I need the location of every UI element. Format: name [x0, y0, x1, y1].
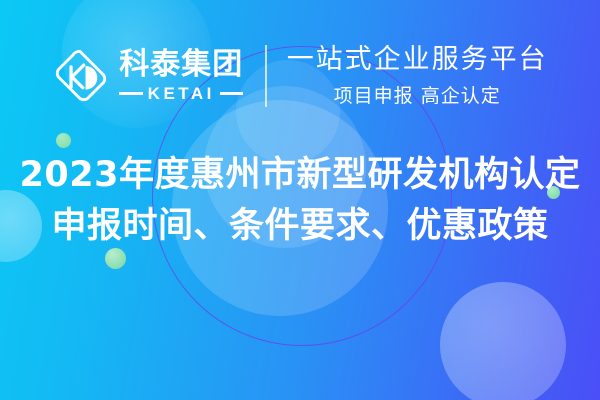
wordmark-rule-left [119, 92, 142, 95]
banner-header: 科泰集团 KETAI 一站式企业服务平台 项目申报 高企认定 [0, 34, 600, 118]
tagline-secondary: 项目申报 高企认定 [287, 81, 548, 108]
brand-logo: 科泰集团 KETAI [52, 47, 243, 105]
decorative-circle-bottom-right [440, 282, 566, 400]
headline-line-1: 2023年度惠州市新型研发机构认定 [0, 150, 600, 201]
wordmark-rule-right [220, 92, 243, 95]
banner-headline: 2023年度惠州市新型研发机构认定 申报时间、条件要求、优惠政策 [0, 150, 600, 252]
brand-wordmark: 科泰集团 KETAI [119, 50, 243, 102]
header-divider [265, 45, 266, 107]
brand-name-en: KETAI [148, 85, 215, 102]
tagline-primary: 一站式企业服务平台 [287, 44, 548, 75]
decorative-dot-green-upper-left [56, 133, 71, 148]
brand-name-en-row: KETAI [119, 85, 243, 102]
headline-line-2: 申报时间、条件要求、优惠政策 [0, 201, 600, 252]
ketai-diamond-kp-logo-icon [52, 47, 110, 105]
brand-tagline: 一站式企业服务平台 项目申报 高企认定 [287, 44, 548, 108]
promo-banner: 科泰集团 KETAI 一站式企业服务平台 项目申报 高企认定 2023年度惠州市… [0, 0, 600, 400]
brand-name-cn: 科泰集团 [119, 50, 243, 80]
